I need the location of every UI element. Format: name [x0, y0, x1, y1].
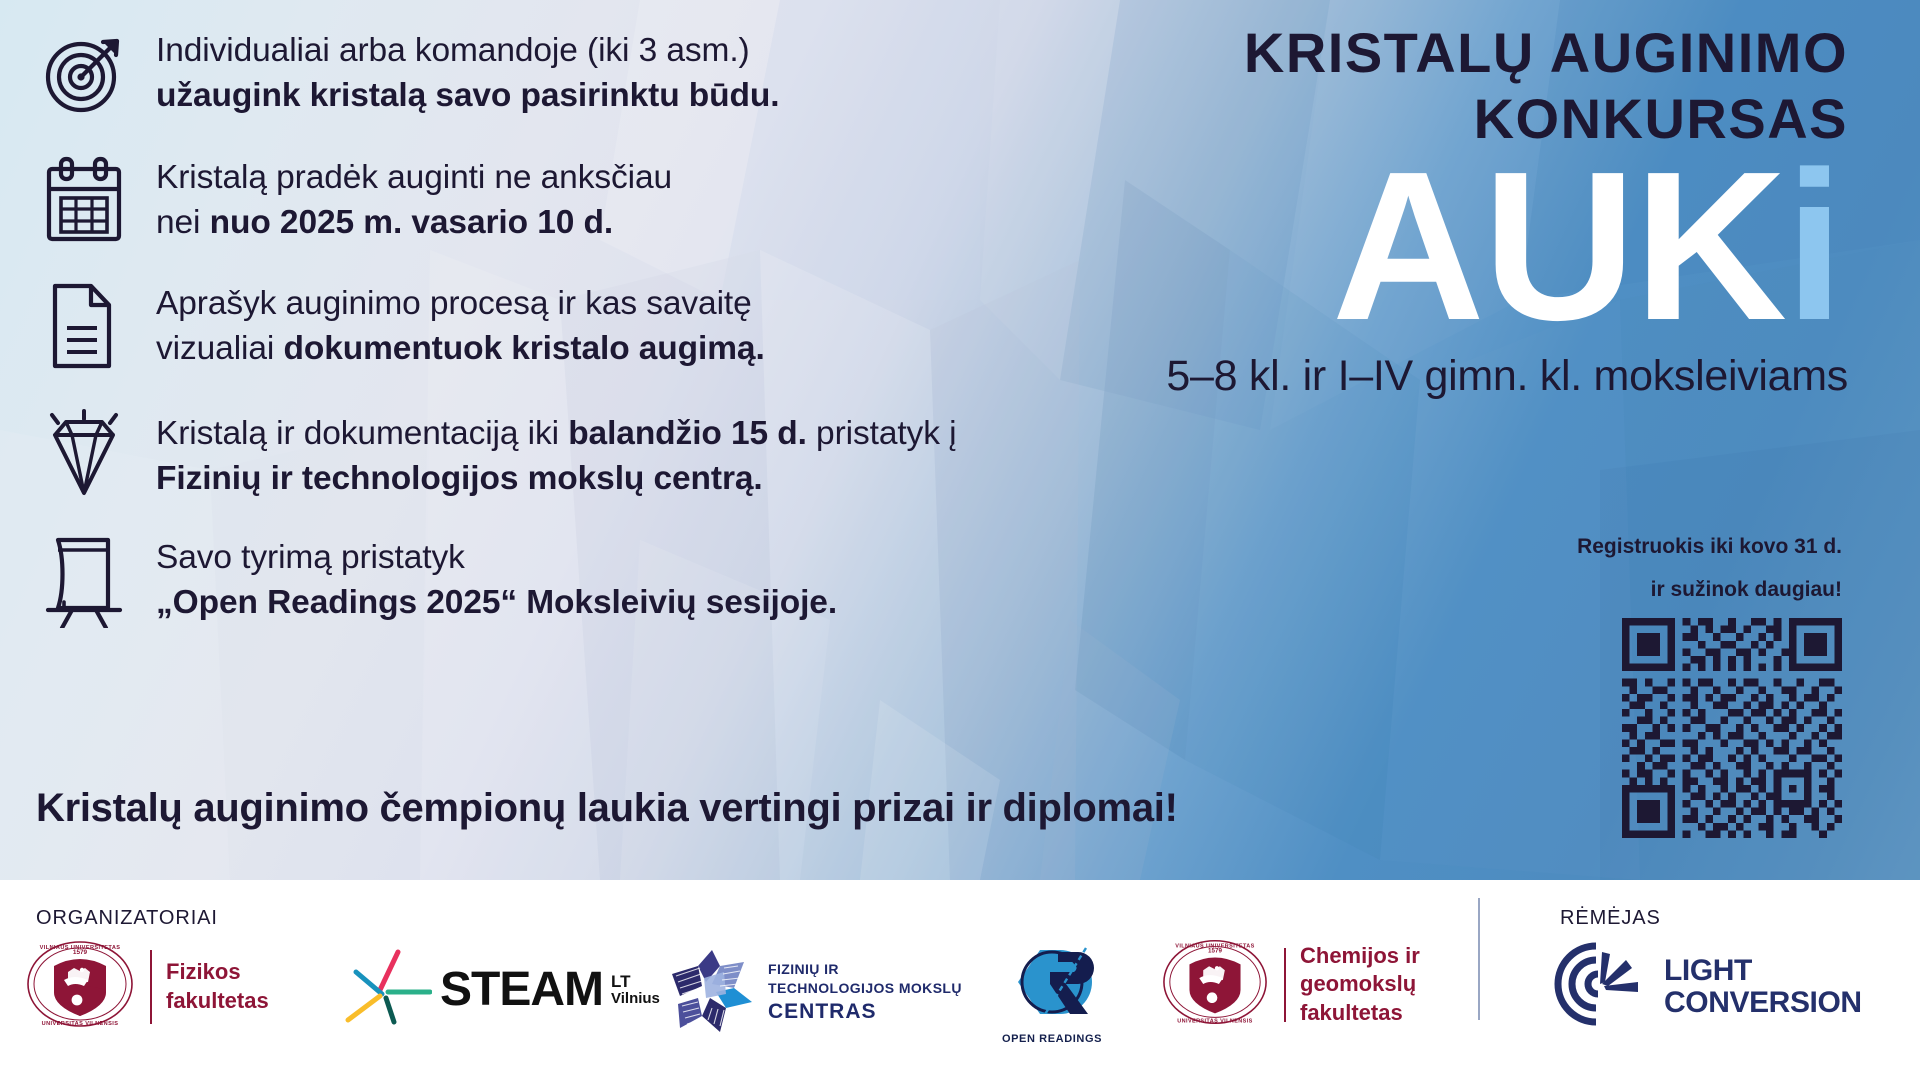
bullet-1-line2: užaugink kristalą savo pasirinktu būdu.	[156, 77, 779, 114]
bullet-4-line1-bold: balandžio 15 d.	[568, 415, 807, 452]
bullet-item-1: Individualiai arba komandoje (iki 3 asm.…	[38, 25, 779, 121]
svg-text:VILNIAUS UNIVERSITETAS: VILNIAUS UNIVERSITETAS	[40, 945, 121, 951]
logo-steam-lt-vilnius: STEAM LT Vilnius	[340, 946, 660, 1033]
bullet-item-5: Savo tyrimą pristatyk „Open Readings 202…	[38, 532, 837, 628]
vu-chemijos-line1: Chemijos ir	[1300, 943, 1420, 968]
poster-root: Individualiai arba komandoje (iki 3 asm.…	[0, 0, 1920, 1080]
target-icon	[38, 25, 130, 121]
ftmc-star-icon	[668, 948, 754, 1039]
vu-crest-icon-2: 1579 VILNIAUS UNIVERSITETAS UNIVERSITAS …	[1160, 938, 1270, 1031]
auki-logo-accent-i: i	[1785, 127, 1842, 364]
steam-asterisk-icon	[340, 946, 432, 1033]
bullet-5-line2: „Open Readings 2025“ Moksleivių sesijoje…	[156, 584, 837, 621]
title-line-1: KRISTALŲ AUGINIMO	[1244, 21, 1848, 84]
lc-line2: CONVERSION	[1664, 986, 1862, 1019]
bullet-5-line1: Savo tyrimą pristatyk	[156, 539, 465, 576]
footer-bar: ORGANIZATORIAI RĖMĖJAS	[0, 880, 1920, 1080]
ftmc-line2: TECHNOLOGIJOS MOKSLŲ	[768, 980, 962, 996]
bullet-text-4: Kristalą ir dokumentaciją iki balandžio …	[156, 408, 956, 501]
logo-open-readings: OPEN READINGS	[1000, 942, 1104, 1045]
vu-fizikos-line1: Fizikos	[166, 959, 241, 984]
vu-logo-rule-2	[1284, 948, 1286, 1022]
auki-logo: AUKi	[1012, 140, 1842, 352]
bullet-text-1: Individualiai arba komandoje (iki 3 asm.…	[156, 25, 779, 118]
open-readings-text: OPEN READINGS	[1002, 1033, 1102, 1045]
bullet-text-2: Kristalą pradėk auginti ne anksčiau nei …	[156, 152, 672, 245]
bullet-item-3: Aprašyk auginimo procesą ir kas savaitę …	[38, 278, 765, 374]
vu-chemijos-text: Chemijos ir geomokslų fakultetas	[1300, 942, 1420, 1026]
bullet-3-line2-bold: dokumentuok kristalo augimą.	[283, 330, 764, 367]
steam-sub-lt: LT	[611, 972, 631, 991]
bullet-1-line1: Individualiai arba komandoje (iki 3 asm.…	[156, 32, 750, 69]
title-column: KRISTALŲ AUGINIMO KONKURSAS AUKi 5–8 kl.…	[900, 0, 1920, 880]
bullet-2-line2-bold: nuo 2025 m. vasario 10 d.	[210, 204, 613, 241]
vu-logo-rule	[150, 950, 152, 1024]
svg-text:VILNIAUS UNIVERSITETAS: VILNIAUS UNIVERSITETAS	[1175, 944, 1254, 950]
auki-logo-main: AUK	[1332, 127, 1785, 364]
svg-text:UNIVERSITAS VILNENSIS: UNIVERSITAS VILNENSIS	[1177, 1018, 1252, 1024]
registration-more-info: ir sužinok daugiau!	[1142, 578, 1842, 602]
document-icon	[38, 278, 130, 374]
bullet-3-line2-prefix: vizualiai	[156, 330, 283, 367]
bullet-item-4: Kristalą ir dokumentaciją iki balandžio …	[38, 408, 956, 504]
bullet-2-line2-prefix: nei	[156, 204, 210, 241]
vu-fizikos-text: Fizikos fakultetas	[166, 958, 269, 1014]
sponsor-label: RĖMĖJAS	[1560, 907, 1661, 930]
diamond-icon	[38, 408, 130, 504]
ftmc-line3: CENTRAS	[768, 998, 962, 1026]
bullet-4-line2: Fizinių ir technologijos mokslų centrą.	[156, 460, 763, 497]
steam-wordmark: STEAM	[440, 962, 603, 1017]
light-conversion-text: LIGHT CONVERSION	[1664, 955, 1862, 1019]
presentation-flipchart-icon	[38, 532, 130, 628]
vu-fizikos-line2: fakultetas	[166, 988, 269, 1013]
bullet-2-line1: Kristalą pradėk auginti ne anksčiau	[156, 159, 672, 196]
bullet-4-line1-prefix: Kristalą ir dokumentaciją iki	[156, 415, 568, 452]
vu-chemijos-line3: fakultetas	[1300, 1000, 1403, 1025]
logo-light-conversion: LIGHT CONVERSION	[1552, 942, 1862, 1031]
ftmc-line1: FIZINIŲ IR	[768, 961, 839, 977]
audience-subtitle: 5–8 kl. ir I–IV gimn. kl. moksleiviams	[1008, 352, 1848, 401]
ftmc-text: FIZINIŲ IR TECHNOLOGIJOS MOKSLŲ CENTRAS	[768, 960, 962, 1026]
logo-vu-fizikos-fakultetas: 1579 VILNIAUS UNIVERSITETAS UNIVERSITAS …	[24, 940, 269, 1033]
svg-text:UNIVERSITAS VILNENSIS: UNIVERSITAS VILNENSIS	[42, 1021, 119, 1027]
registration-deadline: Registruokis iki kovo 31 d.	[1142, 535, 1842, 559]
vu-crest-icon: 1579 VILNIAUS UNIVERSITETAS UNIVERSITAS …	[24, 940, 136, 1033]
bullet-text-3: Aprašyk auginimo procesą ir kas savaitę …	[156, 278, 765, 371]
footer-divider	[1478, 898, 1480, 1020]
steam-sub-city: Vilnius	[611, 990, 660, 1007]
lc-line1: LIGHT	[1664, 954, 1752, 987]
logo-vu-chemijos-fakultetas: 1579 VILNIAUS UNIVERSITETAS UNIVERSITAS …	[1160, 938, 1420, 1031]
bullet-text-5: Savo tyrimą pristatyk „Open Readings 202…	[156, 532, 837, 625]
light-conversion-icon	[1552, 942, 1648, 1031]
steam-sublabel: LT Vilnius	[611, 973, 660, 1007]
organizers-label: ORGANIZATORIAI	[36, 907, 218, 930]
qr-code[interactable]	[1622, 618, 1842, 838]
calendar-icon	[38, 152, 130, 248]
bullet-item-2: Kristalą pradėk auginti ne anksčiau nei …	[38, 152, 672, 248]
vu-chemijos-line2: geomokslų	[1300, 971, 1416, 996]
bullet-3-line1: Aprašyk auginimo procesą ir kas savaitę	[156, 285, 752, 322]
logo-ftmc-centras: FIZINIŲ IR TECHNOLOGIJOS MOKSLŲ CENTRAS	[668, 948, 962, 1039]
open-readings-icon	[1000, 942, 1104, 1029]
